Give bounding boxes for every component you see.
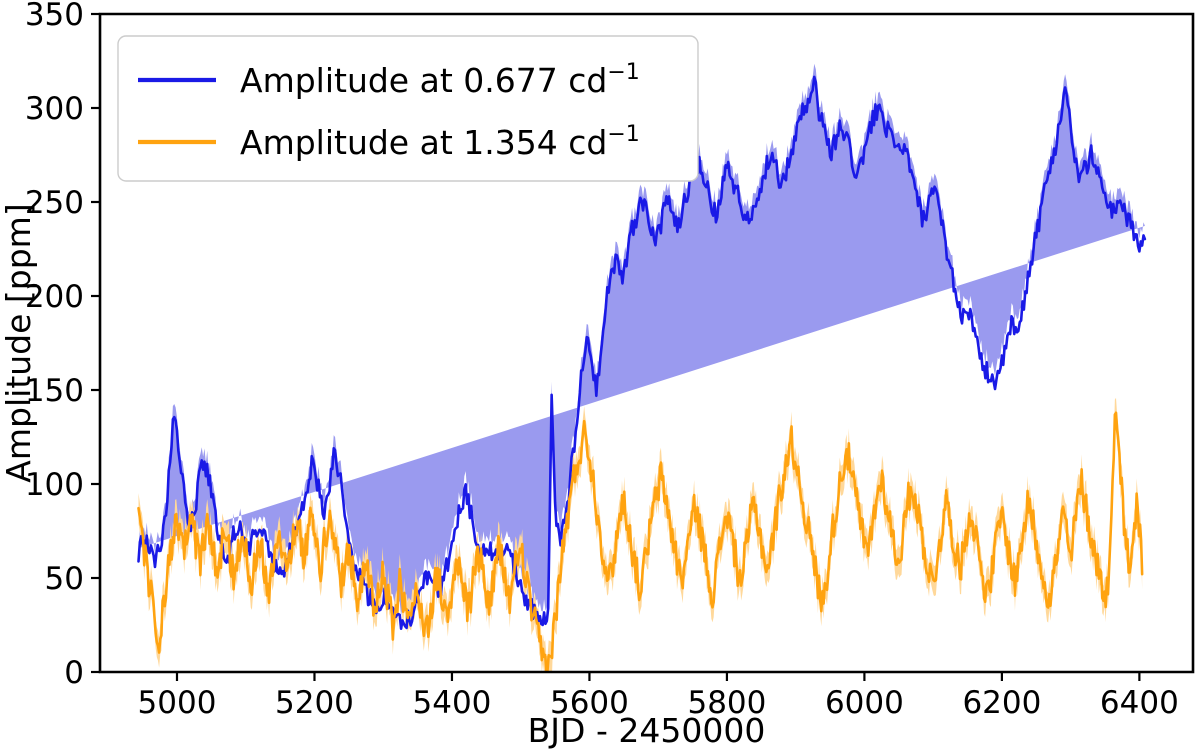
x-tick-label-6200: 6200 <box>962 685 1041 721</box>
y-tick-label-350: 350 <box>25 0 84 33</box>
legend-label-2: Amplitude at 1.354 cd−1 <box>240 122 640 162</box>
x-tick-label-5400: 5400 <box>413 685 492 721</box>
chart-legend: Amplitude at 0.677 cd−1Amplitude at 1.35… <box>118 36 698 181</box>
y-tick-label-0: 0 <box>64 655 84 691</box>
y-tick-label-300: 300 <box>25 91 84 127</box>
chart-canvas: 5000520054005600580060006200640005010015… <box>0 0 1200 756</box>
y-axis-title: Amplitude [ppm] <box>0 203 38 482</box>
x-axis-title: BJD - 2450000 <box>528 711 766 750</box>
legend-label-1: Amplitude at 0.677 cd−1 <box>240 60 640 100</box>
x-tick-label-6000: 6000 <box>825 685 904 721</box>
x-tick-label-5000: 5000 <box>138 685 217 721</box>
y-tick-label-50: 50 <box>45 561 84 597</box>
x-tick-label-5200: 5200 <box>275 685 354 721</box>
x-tick-label-6400: 6400 <box>1100 685 1179 721</box>
amplitude-time-series-figure: 5000520054005600580060006200640005010015… <box>0 0 1200 756</box>
